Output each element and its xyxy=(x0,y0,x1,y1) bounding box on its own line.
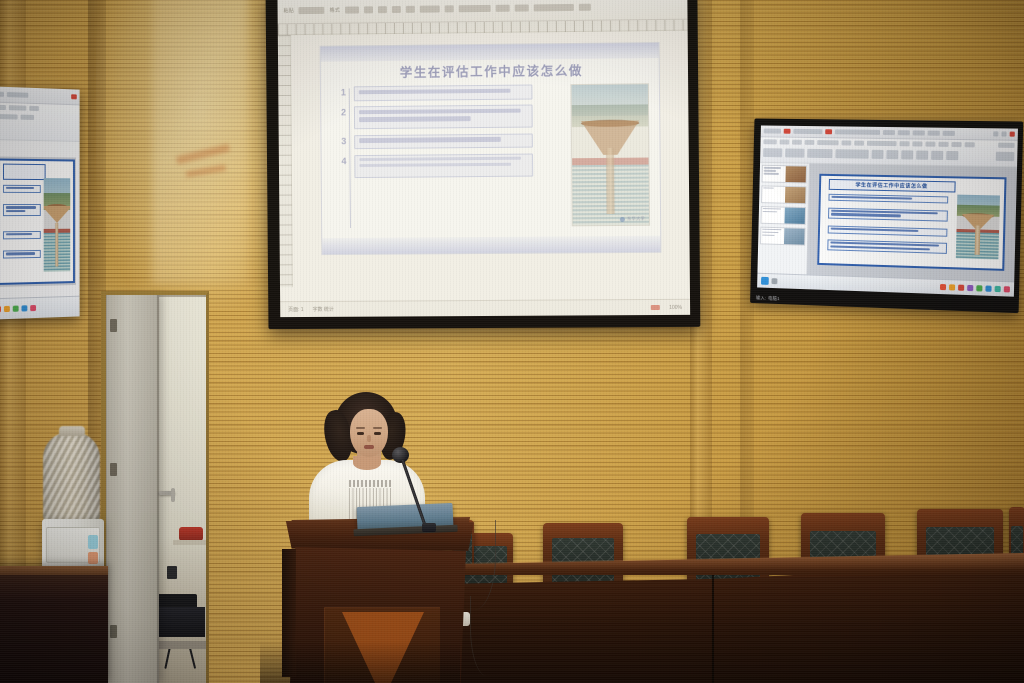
bullet-line xyxy=(6,187,34,189)
water-bottle-wrapped xyxy=(43,432,100,524)
status-page: 页面: 1 xyxy=(288,306,304,313)
thumbnail-image xyxy=(785,187,805,204)
logo-text: 东华大学 xyxy=(627,216,645,222)
monitor-left-app xyxy=(0,86,80,319)
monitor-left-canvas xyxy=(0,156,76,286)
titlebar-chip xyxy=(0,92,4,97)
bullet-line xyxy=(6,206,36,208)
slide-photo-mini xyxy=(43,178,70,272)
presentation-app: 学生在评估工作中应该怎么做 xyxy=(757,125,1018,296)
menu-item[interactable] xyxy=(913,130,925,135)
bullet-line xyxy=(6,233,32,236)
ribbon-chip[interactable] xyxy=(951,141,961,146)
titlebar-chip xyxy=(764,128,781,133)
slide-title: 学生在评估工作中应该怎么做 xyxy=(828,179,955,193)
ribbon-chip[interactable] xyxy=(835,149,868,158)
slide-bullet xyxy=(827,240,947,255)
taskbar-icon[interactable] xyxy=(967,285,973,291)
ribbon-chip xyxy=(533,4,573,11)
taskbar-icon[interactable] xyxy=(995,286,1001,292)
door-frame xyxy=(101,291,209,683)
ribbon-chip[interactable] xyxy=(900,141,910,146)
ribbon-chip[interactable] xyxy=(886,150,898,159)
slide-bullet: 2 xyxy=(337,105,533,130)
bottle-cap xyxy=(59,426,85,436)
gooseneck-microphone[interactable] xyxy=(392,447,438,532)
slide-bullet-list: 1 2 3 xyxy=(337,84,534,234)
ribbon-chip[interactable] xyxy=(916,150,928,159)
current-slide: 学生在评估工作中应该怎么做 xyxy=(818,174,1007,271)
app-status-bar-projected: 页面: 1 字数 统计 100% xyxy=(280,299,690,317)
microphone-base xyxy=(422,523,436,532)
status-words: 字数 统计 xyxy=(312,306,333,313)
ribbon-chip xyxy=(9,105,27,111)
ribbon-chip[interactable] xyxy=(901,150,913,159)
taskbar-icon[interactable] xyxy=(958,285,964,291)
menu-item[interactable] xyxy=(883,130,895,135)
foreground-shadow xyxy=(260,641,460,683)
app-logo-icon xyxy=(825,129,832,134)
thumbnail-text xyxy=(761,207,785,224)
hot-water-tap[interactable] xyxy=(88,552,98,564)
close-icon[interactable] xyxy=(1010,131,1015,136)
taskbar-icon[interactable] xyxy=(22,305,28,311)
thumb-line xyxy=(764,167,781,169)
menu-item[interactable] xyxy=(928,130,940,135)
projector-ghost-image xyxy=(152,0,248,284)
bullet-text-line xyxy=(359,116,470,122)
ribbon-chip[interactable] xyxy=(938,141,948,146)
slide-bullet-mini xyxy=(3,250,41,258)
bullet-text-line xyxy=(359,163,511,167)
ribbon-chip[interactable] xyxy=(931,150,943,159)
slide-bullet: 3 xyxy=(337,133,533,149)
ribbon-chip xyxy=(0,114,18,120)
bullet-number: 4 xyxy=(337,155,350,167)
ribbon-chip xyxy=(0,105,6,110)
slide-bullet xyxy=(828,207,948,221)
bullet-text-line xyxy=(359,88,511,94)
thumb-line xyxy=(764,173,779,175)
slide-bullet-mini xyxy=(3,231,41,239)
status-indicator-icon xyxy=(651,305,660,310)
ribbon-item-label: 格式 xyxy=(330,7,340,14)
slide-editor-canvas[interactable]: 学生在评估工作中应该怎么做 xyxy=(807,164,1017,282)
slide-photo-fountain: 东华大学 xyxy=(570,83,650,226)
slide-bullet: 1 xyxy=(337,84,533,100)
slide-thumbnail[interactable] xyxy=(761,185,807,204)
projection-screen[interactable]: 粘贴 格式 学生在评估 xyxy=(266,0,701,329)
ribbon-chip xyxy=(458,5,490,12)
bullet-number: 2 xyxy=(337,106,350,118)
ribbon-chip xyxy=(514,4,528,11)
cold-water-tap[interactable] xyxy=(88,535,98,549)
ribbon-chip[interactable] xyxy=(805,139,815,144)
photo-fountain-column xyxy=(606,148,615,214)
eyebrow xyxy=(356,427,365,429)
ribbon-chip[interactable] xyxy=(872,149,884,158)
ribbon-chip[interactable] xyxy=(965,142,975,147)
bullet-text-line xyxy=(359,137,501,143)
ribbon-chip xyxy=(495,5,509,12)
slide-thumbnail[interactable] xyxy=(760,226,805,245)
thumbnail-text xyxy=(761,227,785,244)
slide-bullet xyxy=(828,194,948,204)
photo-fountain-column xyxy=(974,226,980,256)
taskbar-icon[interactable] xyxy=(976,285,982,291)
conference-table xyxy=(440,553,1024,683)
bullet-box xyxy=(354,133,533,149)
thumb-line xyxy=(763,187,774,189)
side-desk xyxy=(0,566,108,683)
table-seam xyxy=(712,575,714,683)
bullet-number: 1 xyxy=(337,86,350,98)
taskbar[interactable] xyxy=(0,296,80,320)
titlebar-chip xyxy=(7,92,28,98)
slide-bullet-mini xyxy=(3,204,41,215)
ribbon-chip xyxy=(21,115,35,120)
taskbar-icon[interactable] xyxy=(772,278,778,284)
slide-bullet xyxy=(827,226,947,237)
taskbar-icon[interactable] xyxy=(4,306,10,312)
ribbon-chip[interactable] xyxy=(763,148,782,157)
table-grain xyxy=(440,573,1024,683)
thumbnail-image xyxy=(786,166,806,183)
slide-thumbnail[interactable] xyxy=(761,206,807,225)
face xyxy=(350,409,388,457)
ribbon-row xyxy=(0,112,80,123)
menu-item[interactable] xyxy=(943,130,955,135)
slide-bullet-mini xyxy=(3,185,41,193)
monitor-input-label: 输入: 电脑1 xyxy=(756,295,780,302)
ribbon-chip[interactable] xyxy=(841,140,851,145)
bullet-line xyxy=(831,196,912,200)
start-button-icon[interactable] xyxy=(761,277,769,285)
ribbon-chip[interactable] xyxy=(925,141,935,146)
wall-monitor-left[interactable] xyxy=(0,86,80,319)
eye xyxy=(357,432,364,435)
close-icon[interactable] xyxy=(71,94,77,99)
ribbon-chip xyxy=(364,6,373,13)
monitor-screen-left xyxy=(0,86,80,319)
thumbnail-text xyxy=(762,166,786,183)
microphone-neck xyxy=(401,460,427,529)
taskbar-icon[interactable] xyxy=(30,305,36,311)
taskbar-icon[interactable] xyxy=(949,284,955,290)
thumb-line xyxy=(763,208,781,210)
thumbnail-image xyxy=(784,228,804,245)
eye xyxy=(374,432,381,435)
ribbon-chip[interactable] xyxy=(792,139,802,144)
vertical-ruler xyxy=(278,35,293,287)
menu-item[interactable] xyxy=(898,130,910,135)
ribbon-item-label: 粘贴 xyxy=(284,7,294,14)
slide-title-mini xyxy=(3,164,45,180)
conference-room-photo: 粘贴 格式 学生在评估 xyxy=(0,0,1024,683)
desk-edge xyxy=(0,566,108,575)
titlebar-chip xyxy=(793,129,822,134)
bullet-box xyxy=(354,153,533,178)
titlebar-chip xyxy=(835,129,880,135)
ribbon-chip[interactable] xyxy=(785,148,804,157)
taskbar-icon[interactable] xyxy=(1004,286,1010,292)
app-ribbon xyxy=(0,103,80,142)
thumb-line xyxy=(762,231,778,233)
bullet-line xyxy=(831,213,901,217)
ribbon-chip xyxy=(345,6,359,13)
slide-photo-fountain xyxy=(956,195,1000,260)
bullet-line xyxy=(830,228,918,233)
photo-fountain-bowl xyxy=(43,206,70,223)
ribbon-chip[interactable] xyxy=(912,141,922,146)
mouth xyxy=(364,445,374,449)
slide-bottom-band xyxy=(322,236,660,254)
minimize-icon[interactable] xyxy=(993,131,998,136)
bullet-box xyxy=(354,84,533,100)
ribbon-chip xyxy=(299,7,325,14)
ribbon-chip[interactable] xyxy=(998,142,1014,147)
table-gloss-highlight xyxy=(440,553,1024,569)
slide-thumbnail[interactable] xyxy=(761,165,807,184)
ribbon-chip[interactable] xyxy=(946,150,958,159)
ribbon-chip xyxy=(445,5,454,12)
ribbon-chip[interactable] xyxy=(867,140,897,145)
taskbar-icon[interactable] xyxy=(940,284,946,290)
thumb-line xyxy=(762,228,781,230)
monitor-screen-right: 学生在评估工作中应该怎么做 xyxy=(757,125,1018,296)
slide-thumbnail-panel[interactable] xyxy=(757,163,810,275)
ribbon-chip[interactable] xyxy=(996,151,1015,160)
ribbon-chip[interactable] xyxy=(854,140,864,145)
status-zoom: 100% xyxy=(669,304,682,310)
bullet-box xyxy=(354,105,533,130)
projected-slide: 学生在评估工作中应该怎么做 1 2 xyxy=(320,42,662,255)
ribbon-row xyxy=(760,146,1017,163)
wall-monitor-right[interactable]: 学生在评估工作中应该怎么做 xyxy=(750,119,1023,314)
ribbon-chip xyxy=(392,6,401,13)
taskbar-icon[interactable] xyxy=(985,286,991,292)
ribbon-chip xyxy=(579,4,591,11)
monitor-left-slide xyxy=(0,158,74,285)
thumb-line xyxy=(763,211,777,213)
photo-fountain-column xyxy=(55,223,58,266)
maximize-icon[interactable] xyxy=(1001,131,1006,136)
thumbnail-text xyxy=(762,186,786,203)
ribbon-chip xyxy=(29,106,39,111)
bullet-number: 3 xyxy=(337,135,350,147)
bullet-text-line xyxy=(359,108,521,114)
thumbnail-image xyxy=(785,207,805,224)
slide-title: 学生在评估工作中应该怎么做 xyxy=(335,59,649,81)
app-logo-icon xyxy=(784,128,791,133)
ribbon-chip xyxy=(406,6,415,13)
projection-surface: 粘贴 格式 学生在评估 xyxy=(278,0,691,317)
taskbar-icon[interactable] xyxy=(13,306,19,312)
logo-mark-icon xyxy=(620,216,625,221)
ribbon-chip[interactable] xyxy=(763,139,776,144)
thumb-line xyxy=(762,234,774,236)
thumb-line xyxy=(764,170,777,172)
bullet-line xyxy=(6,210,25,212)
eyebrow xyxy=(373,427,382,429)
slide-bullet: 4 xyxy=(337,153,533,178)
ribbon-chip xyxy=(420,5,440,12)
bullet-line xyxy=(6,252,35,255)
ribbon-chip[interactable] xyxy=(817,140,838,145)
taskbar-icon[interactable] xyxy=(0,306,1,312)
ribbon-chip[interactable] xyxy=(807,148,832,157)
nose xyxy=(367,435,371,442)
bullet-text-line xyxy=(359,157,521,161)
slide-logo: 东华大学 xyxy=(620,216,645,222)
ribbon-chip[interactable] xyxy=(780,139,790,144)
ribbon-chip xyxy=(378,6,387,13)
